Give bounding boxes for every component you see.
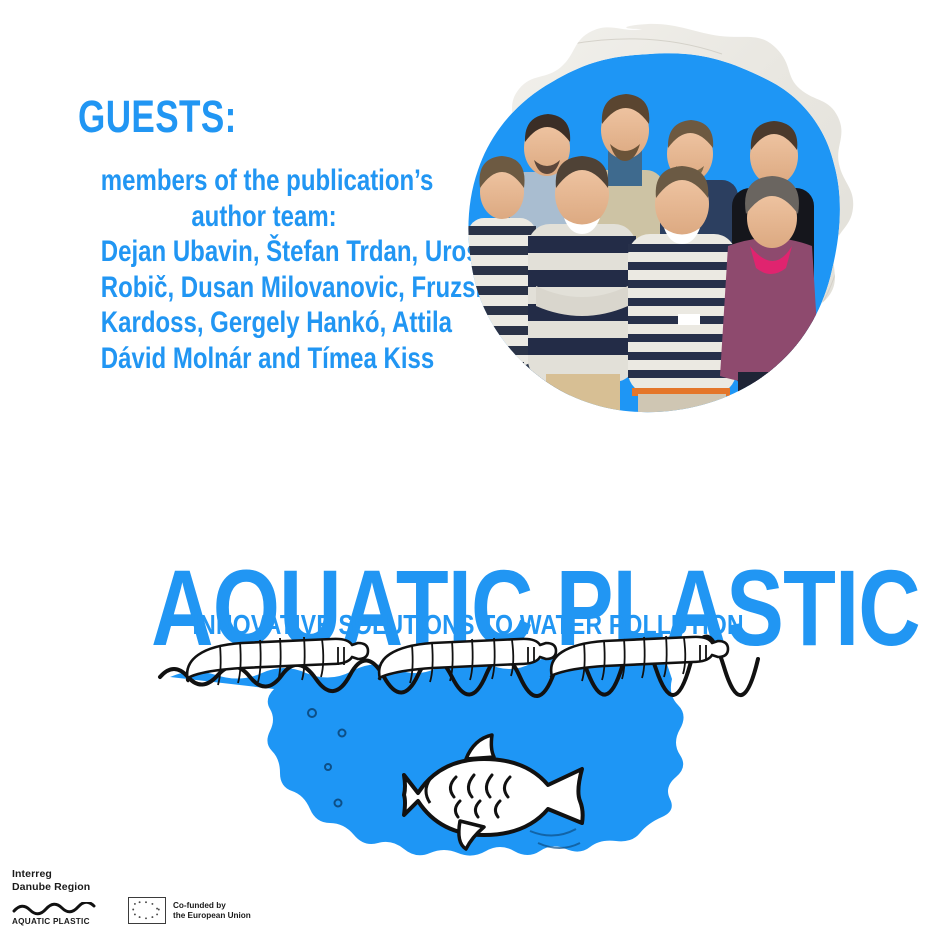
water-blob (170, 656, 684, 855)
wave-icon (12, 902, 102, 916)
eu-line-1: Co-funded by (173, 901, 251, 911)
aquatic-plastic-label: AQUATIC PLASTIC (12, 917, 104, 926)
eu-funding-text: Co-funded by the European Union (173, 901, 251, 921)
guests-name-line-3: Kardoss, Gergely Hankó, Attila (101, 305, 427, 341)
torn-paper-frame (432, 22, 868, 454)
interreg-danube-region-logo: Interreg Danube Region AQUATIC PLASTIC (12, 868, 104, 926)
interreg-line-1: Interreg (12, 868, 104, 881)
eu-line-2: the European Union (173, 911, 251, 921)
podcast-poster: GUESTS: members of the publication’s aut… (0, 0, 936, 936)
guests-name-line-4: Dávid Molnár and Tímea Kiss (101, 341, 427, 377)
guests-name-line-1: Dejan Ubavin, Štefan Trdan, Uroš (101, 234, 427, 270)
footer-logos: Interreg Danube Region AQUATIC PLASTIC (12, 868, 251, 926)
interreg-line-2: Danube Region (12, 881, 104, 894)
guests-description: members of the publication’s author team… (60, 163, 468, 376)
water-pollution-illustration (140, 625, 800, 900)
guests-intro-line-1: members of the publication’s (101, 163, 427, 199)
guests-heading: GUESTS: (78, 94, 237, 140)
team-photo-circle (432, 22, 868, 454)
guests-name-line-2: Robič, Dusan Milovanovic, Fruzsina (101, 270, 427, 306)
interreg-wordmark: Interreg Danube Region (12, 868, 104, 893)
guests-intro-line-2: author team: (101, 199, 427, 235)
eu-cofunding-logo: Co-funded by the European Union (128, 897, 251, 924)
eu-flag-icon (128, 897, 166, 924)
